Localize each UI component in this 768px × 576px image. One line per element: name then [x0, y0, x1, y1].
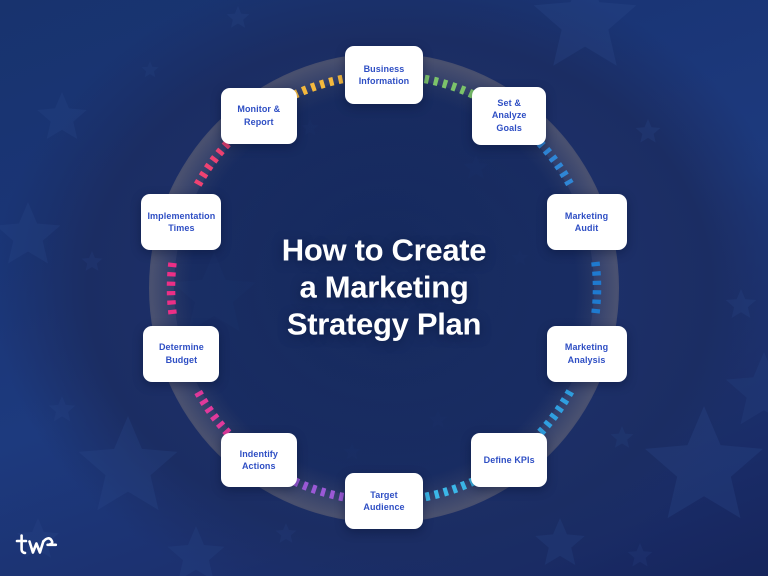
cycle-node-6[interactable]: TargetAudience [345, 473, 423, 529]
cycle-node-label: Define KPIs [479, 454, 540, 466]
page-title-line-3: Strategy Plan [214, 306, 554, 343]
decorative-star [275, 523, 297, 545]
segment-analysis-to-kpis [540, 391, 571, 433]
cycle-node-label: Monitor &Report [232, 103, 285, 128]
cycle-node-7[interactable]: IndentifyActions [221, 433, 297, 487]
cycle-node-label: BusinessInformation [354, 63, 415, 88]
cycle-node-label: TargetAudience [358, 489, 409, 514]
decorative-star [36, 92, 88, 144]
segment-implementation-to-monitor [198, 143, 229, 185]
cycle-node-1[interactable]: BusinessInformation [345, 46, 423, 104]
decorative-star [463, 155, 489, 181]
decorative-star [627, 543, 653, 569]
segment-kpis-to-audience [425, 481, 474, 497]
segment-actions-to-budget [198, 391, 229, 433]
segment-budget-to-implementation [171, 262, 173, 314]
decorative-star [610, 426, 634, 450]
segment-goals-to-audit [540, 143, 571, 185]
decorative-star [301, 119, 319, 137]
cycle-node-label: IndentifyActions [235, 448, 283, 473]
segment-audit-to-analysis [595, 262, 597, 314]
decorative-star [428, 410, 448, 430]
decorative-star [635, 119, 661, 145]
cycle-node-4[interactable]: MarketingAnalysis [547, 326, 627, 382]
decorative-star [511, 249, 529, 267]
decorative-star [725, 289, 757, 321]
decorative-star [724, 352, 768, 432]
cycle-node-label: Set &AnalyzeGoals [487, 97, 532, 134]
page-title: How to Createa MarketingStrategy Plan [214, 233, 554, 344]
decorative-star [226, 6, 250, 30]
page-title-line-2: a Marketing [214, 270, 554, 307]
cycle-node-label: ImplementationTimes [142, 210, 220, 235]
page-title-line-1: How to Create [214, 233, 554, 270]
decorative-star [76, 416, 180, 520]
segment-business-to-goals [425, 79, 474, 95]
decorative-star [81, 251, 103, 273]
cycle-node-9[interactable]: ImplementationTimes [141, 194, 221, 250]
decorative-star [534, 518, 586, 570]
cycle-node-label: MarketingAudit [560, 210, 613, 235]
tw-logo [14, 532, 60, 562]
decorative-star [531, 0, 639, 76]
decorative-star [166, 526, 226, 576]
decorative-star [343, 443, 361, 461]
segment-monitor-to-business [294, 79, 343, 95]
decorative-star [642, 406, 766, 530]
cycle-node-10[interactable]: Monitor &Report [221, 88, 297, 144]
cycle-node-label: DetermineBudget [154, 341, 209, 366]
cycle-node-5[interactable]: Define KPIs [471, 433, 547, 487]
decorative-star [141, 61, 159, 79]
cycle-node-label: MarketingAnalysis [560, 341, 613, 366]
ring-glow [149, 53, 619, 523]
decorative-star [0, 202, 62, 270]
infographic-canvas: BusinessInformationSet &AnalyzeGoalsMark… [0, 0, 768, 576]
cycle-node-2[interactable]: Set &AnalyzeGoals [472, 87, 546, 145]
segment-audience-to-actions [294, 481, 343, 497]
cycle-node-3[interactable]: MarketingAudit [547, 194, 627, 250]
cycle-node-8[interactable]: DetermineBudget [143, 326, 219, 382]
decorative-star [48, 396, 76, 424]
